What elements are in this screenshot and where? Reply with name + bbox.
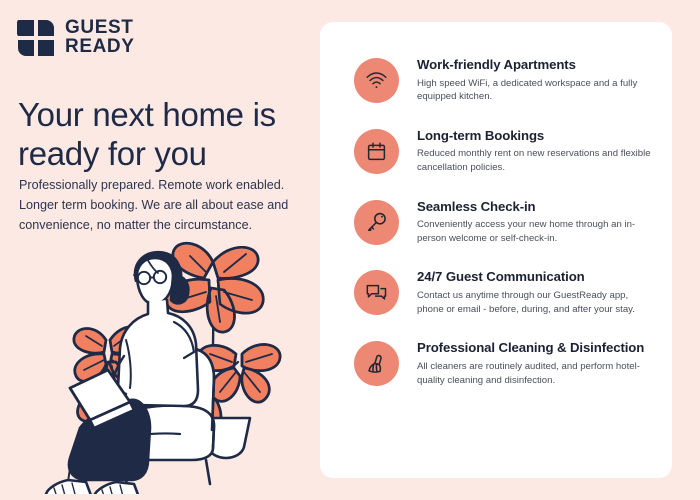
feature-description: Contact us anytime through our GuestRead… bbox=[417, 289, 656, 317]
calendar-icon bbox=[354, 129, 399, 174]
feature-text: Professional Cleaning & Disinfection All… bbox=[417, 339, 656, 387]
feature-description: All cleaners are routinely audited, and … bbox=[417, 360, 656, 388]
feature-title: Long-term Bookings bbox=[417, 128, 656, 145]
feature-title: 24/7 Guest Communication bbox=[417, 269, 656, 286]
left-panel: GUEST READY Your next home is ready for … bbox=[0, 0, 320, 500]
guestready-quadrant-logo-icon bbox=[17, 19, 55, 57]
features-list: Work-friendly Apartments High speed WiFi… bbox=[354, 56, 656, 388]
feature-item-professional-cleaning[interactable]: Professional Cleaning & Disinfection All… bbox=[354, 339, 656, 387]
key-icon bbox=[354, 200, 399, 245]
brand-logo[interactable]: GUEST READY bbox=[17, 19, 135, 57]
chat-bubbles-icon bbox=[354, 270, 399, 315]
feature-title: Work-friendly Apartments bbox=[417, 57, 656, 74]
brand-wordmark: GUEST READY bbox=[65, 19, 135, 56]
feature-title: Seamless Check-in bbox=[417, 199, 656, 216]
feature-description: High speed WiFi, a dedicated workspace a… bbox=[417, 77, 656, 105]
wifi-icon bbox=[354, 58, 399, 103]
features-card: Work-friendly Apartments High speed WiFi… bbox=[320, 22, 672, 478]
broom-icon bbox=[354, 341, 399, 386]
feature-item-guest-communication[interactable]: 24/7 Guest Communication Contact us anyt… bbox=[354, 268, 656, 316]
brand-name-line2: READY bbox=[65, 38, 135, 57]
feature-title: Professional Cleaning & Disinfection bbox=[417, 340, 656, 357]
page-title: Your next home is ready for you bbox=[18, 96, 308, 173]
feature-item-long-term-bookings[interactable]: Long-term Bookings Reduced monthly rent … bbox=[354, 127, 656, 175]
feature-text: Seamless Check-in Conveniently access yo… bbox=[417, 198, 656, 246]
feature-item-seamless-check-in[interactable]: Seamless Check-in Conveniently access yo… bbox=[354, 198, 656, 246]
feature-item-work-friendly-apartments[interactable]: Work-friendly Apartments High speed WiFi… bbox=[354, 56, 656, 104]
feature-description: Reduced monthly rent on new reservations… bbox=[417, 147, 656, 175]
feature-text: 24/7 Guest Communication Contact us anyt… bbox=[417, 268, 656, 316]
promo-graphic: GUEST READY Your next home is ready for … bbox=[0, 0, 700, 500]
feature-text: Long-term Bookings Reduced monthly rent … bbox=[417, 127, 656, 175]
feature-text: Work-friendly Apartments High speed WiFi… bbox=[417, 56, 656, 104]
feature-description: Conveniently access your new home throug… bbox=[417, 218, 656, 246]
hero-illustration bbox=[34, 222, 320, 494]
